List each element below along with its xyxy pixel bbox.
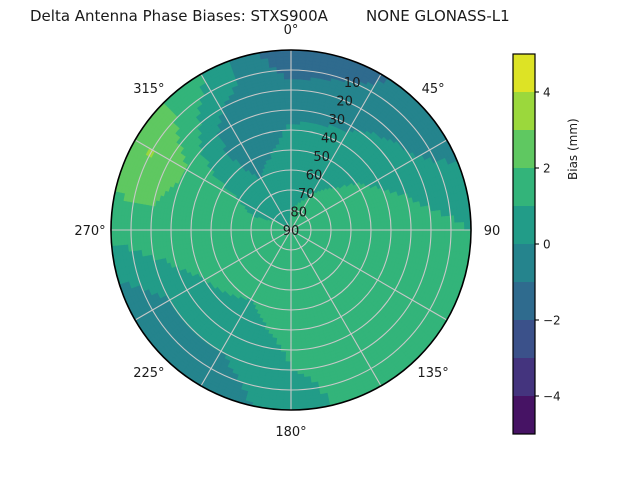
contour-cell (185, 225, 188, 230)
contour-cell (204, 226, 207, 230)
contour-cell (291, 326, 295, 329)
contour-cell (287, 137, 291, 140)
contour-cell (287, 134, 291, 137)
contour-cell (291, 121, 296, 124)
contour-cell (291, 323, 295, 326)
contour-cell (286, 121, 291, 124)
contour-cell (387, 226, 390, 230)
contour-cell (287, 320, 291, 323)
contour-cell (384, 226, 387, 230)
contour-cell (384, 230, 387, 234)
contour-cell (378, 230, 381, 234)
contour-cell (182, 230, 185, 235)
contour-cell (358, 224, 361, 227)
contour-cell (220, 233, 223, 236)
contour-cell (287, 326, 291, 329)
contour-cell (204, 230, 207, 234)
contour-cell (198, 226, 201, 230)
contour-cell (381, 226, 384, 230)
contour-cell (195, 226, 198, 230)
contour-cell (397, 230, 400, 235)
contour-cell (387, 230, 390, 234)
contour-cell (291, 124, 296, 127)
contour-cell (397, 225, 400, 230)
contour-cell (291, 339, 296, 342)
contour-cell (378, 226, 381, 230)
contour-cell (191, 226, 194, 230)
contour-cell (291, 140, 295, 143)
contour-cell (291, 137, 295, 140)
contour-cell (291, 313, 295, 316)
contour-cell (287, 317, 291, 320)
contour-cell (381, 230, 384, 234)
contour-cell (182, 225, 185, 230)
contour-cell (287, 143, 291, 146)
contour-cell (400, 230, 403, 235)
contour-cell (198, 230, 201, 234)
contour-cell (291, 333, 296, 336)
contour-cell (291, 336, 296, 339)
contour-cell (286, 336, 291, 339)
contour-cell (394, 225, 397, 230)
contour-cell (286, 339, 291, 342)
polar-axes: 1020304050607080900°45°90135°180°225°270… (108, 47, 474, 413)
contour-cell (195, 230, 198, 234)
contour-cell (291, 320, 295, 323)
contour-cell (285, 159, 288, 162)
contour-cell (291, 118, 296, 121)
contour-cell (191, 230, 194, 234)
contour-cell (286, 124, 291, 127)
figure-title: Delta Antenna Phase Biases: STXS900A NON… (30, 7, 510, 25)
contour-cell (291, 317, 295, 320)
contour-cell (287, 130, 291, 133)
figure-canvas: Delta Antenna Phase Biases: STXS900A NON… (0, 0, 640, 480)
contour-cell (287, 323, 291, 326)
polar-plot-svg: 1020304050607080900°45°90135°180°225°270… (108, 47, 474, 413)
contour-cell (291, 134, 295, 137)
contour-cell (201, 230, 204, 234)
contour-cell (287, 313, 291, 316)
contour-cell (291, 143, 295, 146)
contour-cell (291, 130, 295, 133)
contour-cell (287, 140, 291, 143)
contour-cell (201, 226, 204, 230)
contour-cell (374, 226, 377, 230)
contour-cell (394, 230, 397, 235)
contour-cell (286, 333, 291, 336)
contour-cell (400, 225, 403, 230)
contour-cell (294, 297, 297, 300)
contour-cell (374, 230, 377, 234)
contour-cell (185, 230, 188, 235)
